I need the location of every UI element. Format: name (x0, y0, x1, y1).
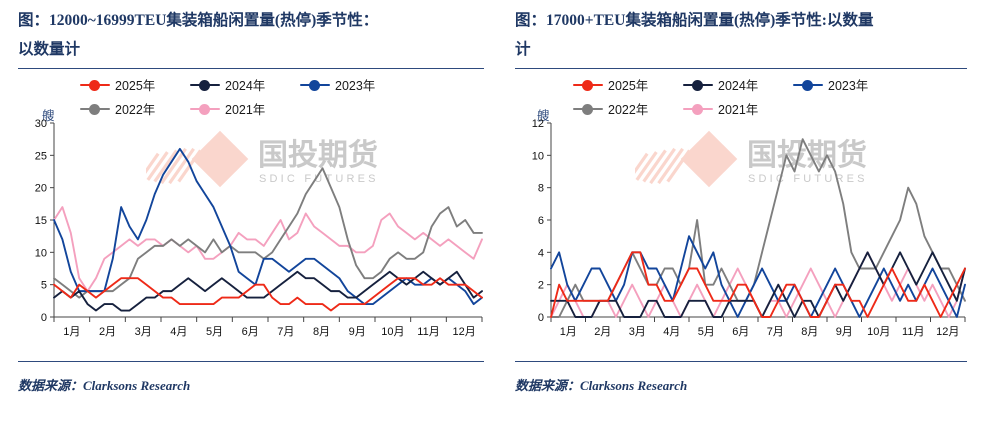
svg-text:9月: 9月 (836, 326, 853, 338)
svg-text:10月: 10月 (381, 326, 404, 338)
source-divider-left (18, 361, 484, 362)
legend-marker-icon (573, 79, 603, 91)
svg-text:5月: 5月 (206, 326, 223, 338)
svg-text:7月: 7月 (767, 326, 784, 338)
svg-text:2: 2 (538, 280, 544, 292)
svg-text:5: 5 (41, 280, 47, 292)
legend-left: 2025年 2024年 2023年 (80, 75, 440, 118)
page-title-right: 图：17000+TEU集装箱船闲置量(热停)季节性:以数量 计 (515, 6, 972, 64)
svg-text:10: 10 (532, 150, 544, 162)
legend-marker-icon (80, 79, 110, 91)
legend-label: 2023年 (828, 75, 868, 94)
svg-text:9月: 9月 (349, 326, 366, 338)
svg-text:1月: 1月 (63, 326, 80, 338)
legend-label: 2025年 (608, 75, 648, 94)
svg-text:11月: 11月 (902, 326, 924, 338)
legend-label: 2021年 (225, 99, 265, 118)
legend-label: 2024年 (225, 75, 265, 94)
legend-label: 2025年 (115, 75, 155, 94)
svg-text:10月: 10月 (867, 326, 890, 338)
legend-right: 2025年 2024年 2023年 (573, 75, 933, 118)
chart-svg-right: 0246810121月2月3月4月5月6月7月8月9月10月11月12月 (515, 117, 971, 347)
legend-marker-icon (793, 79, 823, 91)
svg-text:11月: 11月 (417, 326, 439, 338)
svg-text:0: 0 (41, 312, 47, 324)
svg-text:4月: 4月 (663, 326, 680, 338)
legend-marker-icon (190, 79, 220, 91)
legend-item-2025[interactable]: 2025年 (573, 75, 683, 94)
source-note-left: 数据来源：Clarksons Research (18, 375, 481, 394)
svg-text:12月: 12月 (453, 326, 476, 338)
svg-text:1月: 1月 (560, 326, 577, 338)
panel-left: 图：12000~16999TEU集装箱船闲置量(热停)季节性： 以数量计 202… (0, 0, 491, 428)
chart-svg-left: 0510152025301月2月3月4月5月6月7月8月9月10月11月12月 (18, 117, 488, 347)
legend-item-2021[interactable]: 2021年 (683, 99, 793, 118)
legend-item-2022[interactable]: 2022年 (573, 99, 683, 118)
legend-item-2024[interactable]: 2024年 (190, 75, 300, 94)
svg-text:3月: 3月 (135, 326, 152, 338)
svg-text:15: 15 (35, 215, 47, 227)
svg-text:2月: 2月 (594, 326, 611, 338)
legend-item-2025[interactable]: 2025年 (80, 75, 190, 94)
source-divider-right (515, 361, 967, 362)
svg-text:0: 0 (538, 312, 544, 324)
chart-area-left: 2025年 2024年 2023年 (18, 69, 481, 361)
legend-marker-icon (573, 103, 603, 115)
legend-label: 2022年 (608, 99, 648, 118)
source-note-right: 数据来源：Clarksons Research (515, 375, 972, 394)
chart-area-right: 2025年 2024年 2023年 (515, 69, 972, 361)
svg-text:25: 25 (35, 150, 47, 162)
legend-marker-icon (80, 103, 110, 115)
legend-marker-icon (683, 79, 713, 91)
legend-marker-icon (300, 79, 330, 91)
legend-label: 2024年 (718, 75, 758, 94)
svg-text:6月: 6月 (732, 326, 749, 338)
svg-text:4: 4 (538, 247, 544, 259)
panel-right: 图：17000+TEU集装箱船闲置量(热停)季节性:以数量 计 2025年 20… (491, 0, 982, 428)
svg-text:3月: 3月 (629, 326, 646, 338)
svg-text:4月: 4月 (170, 326, 187, 338)
svg-text:12月: 12月 (936, 326, 959, 338)
svg-text:12: 12 (532, 118, 544, 130)
svg-text:10: 10 (35, 247, 47, 259)
legend-marker-icon (683, 103, 713, 115)
legend-item-2022[interactable]: 2022年 (80, 99, 190, 118)
page-title-left: 图：12000~16999TEU集装箱船闲置量(热停)季节性： 以数量计 (18, 6, 481, 64)
legend-item-2021[interactable]: 2021年 (190, 99, 300, 118)
legend-label: 2023年 (335, 75, 375, 94)
svg-text:2月: 2月 (99, 326, 116, 338)
legend-label: 2021年 (718, 99, 758, 118)
svg-text:8月: 8月 (313, 326, 330, 338)
svg-text:8月: 8月 (801, 326, 818, 338)
svg-text:6: 6 (538, 215, 544, 227)
svg-text:30: 30 (35, 118, 47, 130)
legend-item-2023[interactable]: 2023年 (300, 75, 410, 94)
legend-item-2023[interactable]: 2023年 (793, 75, 903, 94)
svg-text:5月: 5月 (698, 326, 715, 338)
legend-label: 2022年 (115, 99, 155, 118)
figure-pair-page: 图：12000~16999TEU集装箱船闲置量(热停)季节性： 以数量计 202… (0, 0, 982, 428)
legend-item-2024[interactable]: 2024年 (683, 75, 793, 94)
svg-text:7月: 7月 (277, 326, 294, 338)
svg-text:8: 8 (538, 183, 544, 195)
legend-marker-icon (190, 103, 220, 115)
svg-text:6月: 6月 (242, 326, 259, 338)
svg-text:20: 20 (35, 183, 47, 195)
